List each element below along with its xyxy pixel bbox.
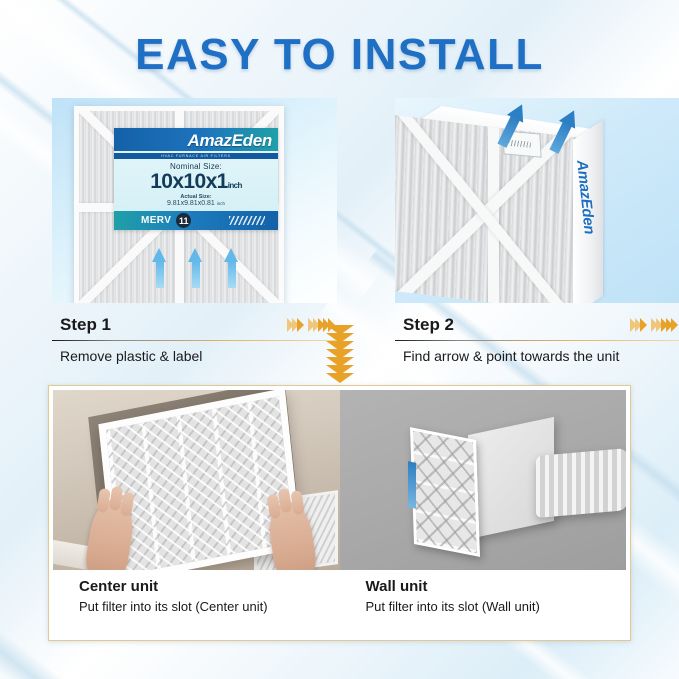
step-2-title: Step 2 [403, 315, 454, 335]
chevron-right-icon [640, 318, 647, 332]
brand-name: AmazEden [120, 132, 272, 149]
filter-edge-label [408, 461, 416, 509]
wall-unit-title: Wall unit [366, 578, 627, 595]
wall-unit-card: Wall unit Put filter into its slot (Wall… [340, 390, 627, 636]
center-unit-card: Center unit Put filter into its slot (Ce… [53, 390, 340, 636]
step-2-description: Find arrow & point towards the unit [395, 341, 679, 364]
label-body: Nominal Size: 10x10x1inch Actual Size: 9… [114, 159, 278, 209]
merv-stripes-icon [229, 216, 265, 225]
flow-down-chevrons [312, 325, 368, 381]
wall-filter [409, 427, 479, 557]
wall-unit-caption: Wall unit Put filter into its slot (Wall… [340, 570, 627, 636]
label-brand-bar: AmazEden [114, 128, 278, 151]
filter-angled-view: AmazEden [395, 98, 679, 303]
actual-size-unit: inch [217, 201, 225, 206]
merv-label: MERV [141, 215, 171, 226]
airflow-up-arrow-icon [188, 248, 203, 288]
center-unit-title: Center unit [79, 578, 340, 595]
airflow-up-arrow-icon [152, 248, 167, 288]
wall-unit-image [340, 390, 627, 570]
merv-badge: 11 [176, 213, 191, 228]
chevron-group-small [630, 318, 645, 332]
flexible-duct [536, 448, 627, 518]
filter-mesh [413, 431, 477, 554]
step-card-1: AmazEden HVAC FURNACE AIR FILTERS Nomina… [52, 98, 337, 364]
chevron-group-small [287, 318, 302, 332]
step-1-header: Step 1 [52, 303, 337, 340]
chevron-right-icon [297, 318, 304, 332]
step-1-title: Step 1 [60, 315, 111, 335]
center-unit-description: Put filter into its slot (Center unit) [79, 599, 340, 614]
nominal-size-number: 10x10x1 [150, 170, 228, 193]
step-1-image: AmazEden HVAC FURNACE AIR FILTERS Nomina… [52, 98, 337, 303]
actual-size-value: 9.81x9.81x0.81 inch [118, 200, 274, 207]
product-infographic: EASY TO INSTALL AmazEden HVAC FURNACE AI… [0, 0, 679, 679]
center-unit-caption: Center unit Put filter into its slot (Ce… [53, 570, 340, 636]
step-2-header: Step 2 [395, 303, 679, 340]
step-2-image: AmazEden [395, 98, 679, 303]
filter-label-sticker: AmazEden HVAC FURNACE AIR FILTERS Nomina… [114, 128, 278, 230]
nominal-size-value: 10x10x1inch [118, 171, 274, 193]
chevron-right-icon [671, 318, 678, 332]
wall-unit-description: Put filter into its slot (Wall unit) [366, 599, 627, 614]
airflow-up-arrow-icon [224, 248, 239, 288]
nominal-size-unit: inch [228, 181, 242, 190]
step-card-2: AmazEden Step 2 [395, 98, 679, 364]
chevron-group-large [651, 318, 676, 332]
center-unit-image [53, 390, 340, 570]
merv-bar: MERV 11 [114, 211, 278, 230]
actual-size-number: 9.81x9.81x0.81 [167, 200, 215, 207]
chevron-down-icon [326, 373, 354, 383]
page-title: EASY TO INSTALL [0, 30, 679, 80]
installation-locations-panel: Center unit Put filter into its slot (Ce… [48, 385, 631, 641]
filter-mesh [106, 396, 294, 570]
step-2-chevrons [630, 318, 676, 332]
step-1-description: Remove plastic & label [52, 341, 337, 364]
